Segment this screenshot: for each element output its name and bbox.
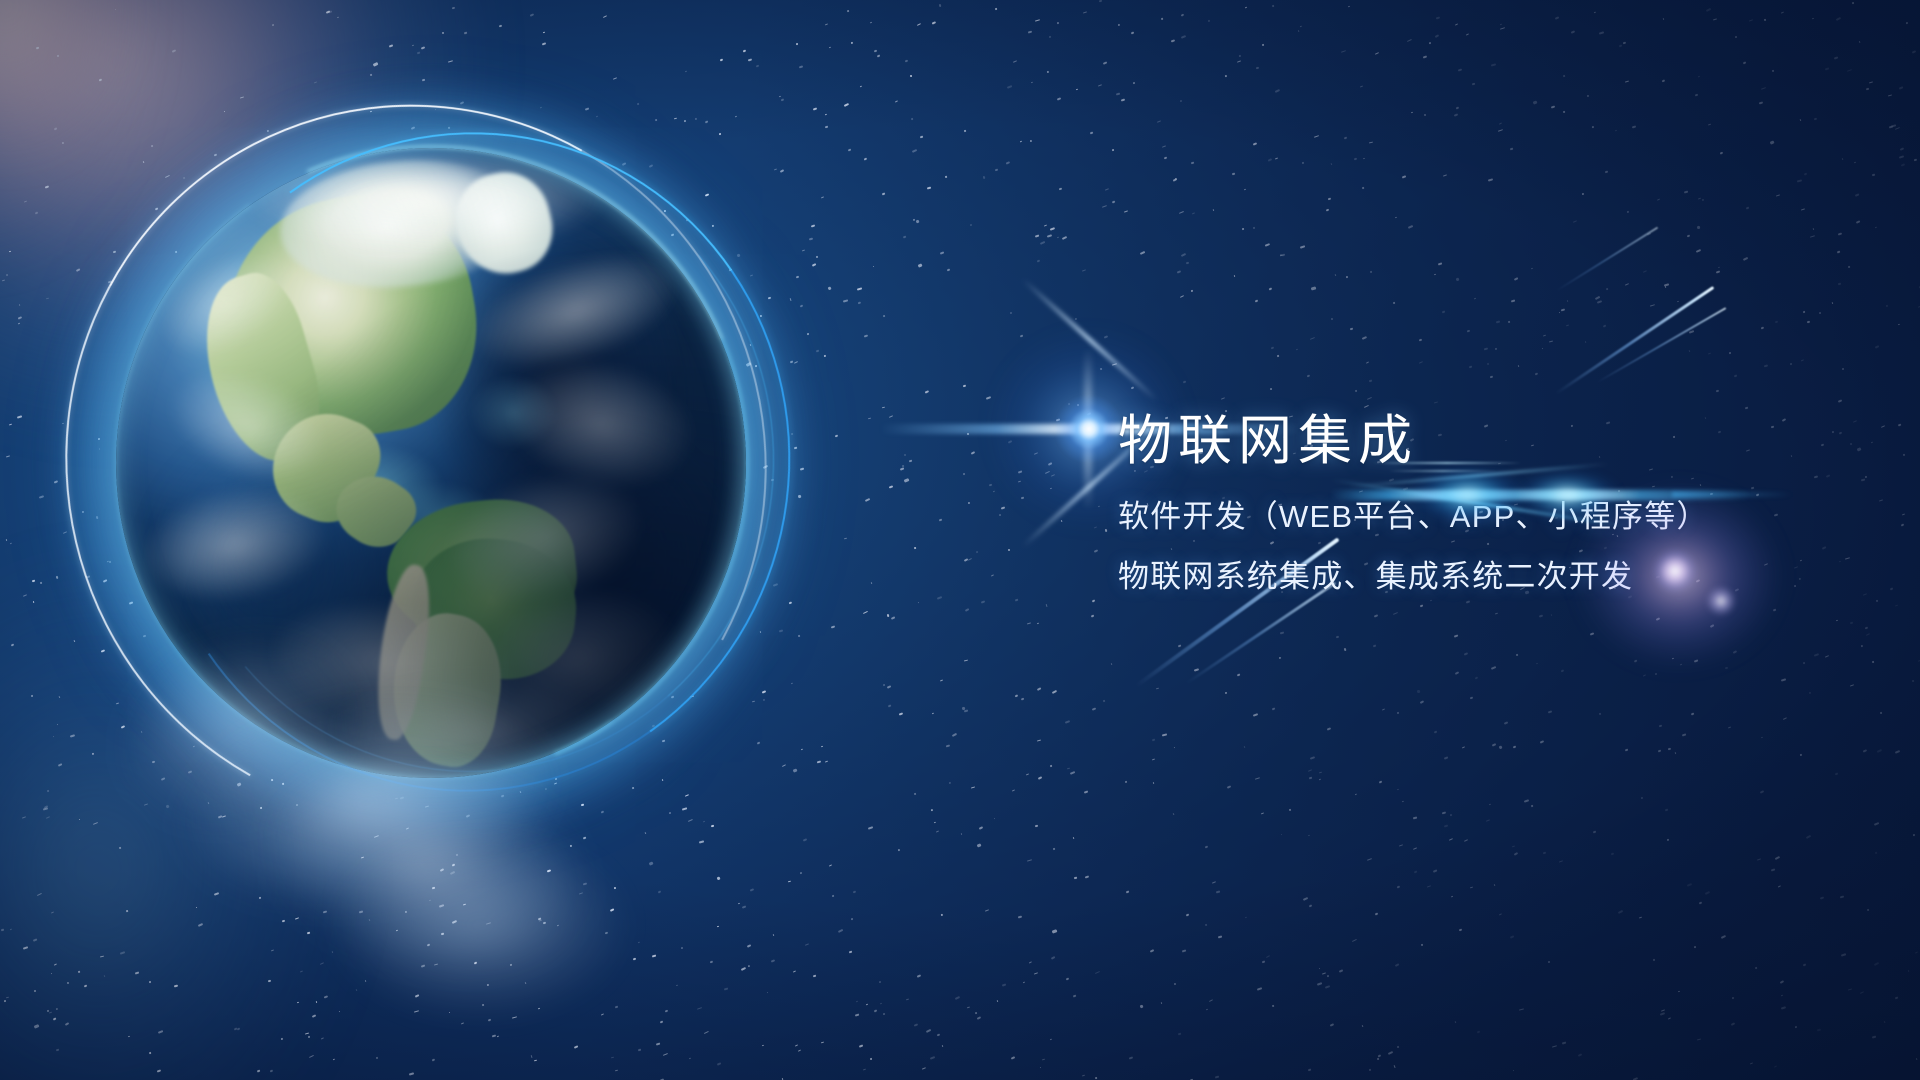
banner-subtitle: 软件开发（WEB平台、APP、小程序等） 物联网系统集成、集成系统二次开发 (1118, 493, 1858, 602)
subtitle-line-2: 物联网系统集成、集成系统二次开发 (1118, 553, 1858, 601)
subtitle-line-1: 软件开发（WEB平台、APP、小程序等） (1118, 493, 1858, 541)
earth-globe (116, 148, 746, 778)
page-title: 物联网集成 (1118, 414, 1858, 469)
banner-copy: 物联网集成 软件开发（WEB平台、APP、小程序等） 物联网系统集成、集成系统二… (1118, 414, 1858, 602)
hero-banner: 物联网集成 软件开发（WEB平台、APP、小程序等） 物联网系统集成、集成系统二… (0, 0, 1920, 1080)
